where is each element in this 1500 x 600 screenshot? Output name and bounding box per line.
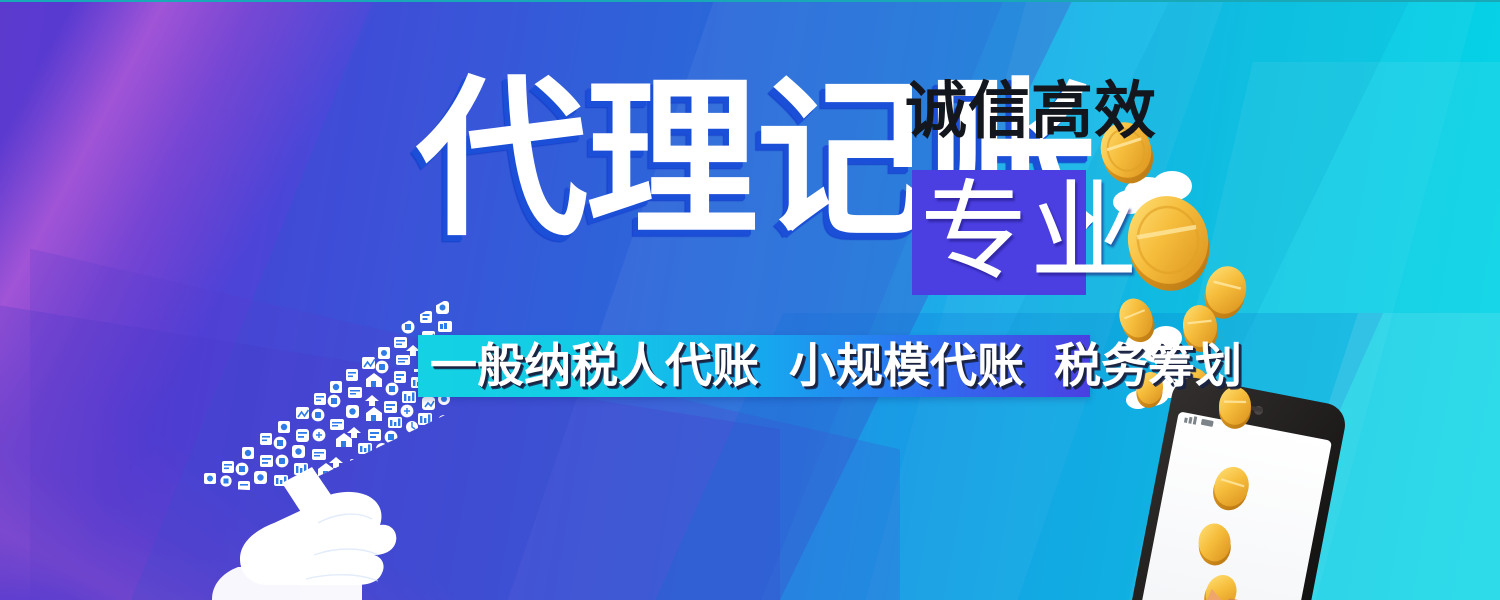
service-item-1: 一般纳税人代账 <box>430 339 759 395</box>
marketing-banner: 代理记账 诚信高效 专业 一般纳税人代账 小规模代账 税务筹划 <box>0 0 1500 600</box>
service-item-3: 税务筹划 <box>1054 339 1242 395</box>
service-item-2: 小规模代账 <box>789 339 1024 395</box>
services-list: 一般纳税人代账 小规模代账 税务筹划 <box>430 338 1090 396</box>
tagline: 诚信高效 <box>905 80 1157 142</box>
megaphone-icon <box>186 287 486 600</box>
status-badge: 专业 <box>912 170 1086 295</box>
badge-label: 专业 <box>920 174 1094 292</box>
